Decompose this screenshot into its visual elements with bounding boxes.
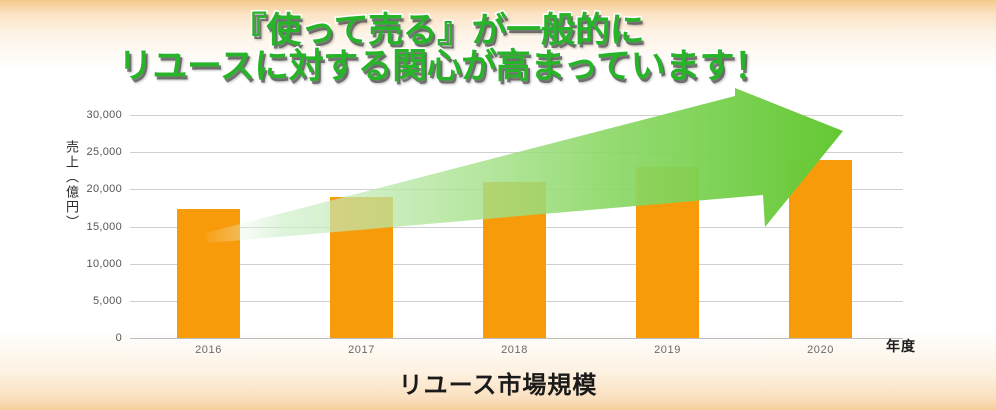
headline-line-2: リユースに対する関心が高まっています！ [118, 50, 878, 84]
y-axis-tick-label: 5,000 [32, 295, 122, 307]
y-axis-title: 売上（億円） [44, 140, 78, 230]
bar [789, 160, 852, 338]
x-axis-tick-label: 2016 [164, 344, 254, 356]
chart-title: リユース市場規模 [0, 365, 996, 400]
x-axis-title: 年度 [886, 336, 916, 356]
x-axis-tick-label: 2019 [623, 344, 713, 356]
y-axis-tick-label: 10,000 [32, 258, 122, 270]
x-axis-tick-label: 2017 [317, 344, 407, 356]
bar [636, 167, 699, 338]
x-axis-tick-label: 2020 [776, 344, 866, 356]
bar [177, 209, 240, 338]
headline-line-1: 『使って売る』が一般的に [118, 14, 878, 48]
infographic-root: 05,00010,00015,00020,00025,00030,000 201… [0, 0, 996, 410]
gridline [130, 152, 903, 153]
headline: 『使って売る』が一般的に リユースに対する関心が高まっています！ [118, 14, 878, 85]
x-axis-line [130, 338, 903, 339]
bar [483, 182, 546, 338]
bar [330, 197, 393, 338]
y-axis-tick-label: 0 [32, 332, 122, 344]
y-axis-tick-label: 30,000 [32, 109, 122, 121]
gridline [130, 115, 903, 116]
x-axis-tick-label: 2018 [470, 344, 560, 356]
